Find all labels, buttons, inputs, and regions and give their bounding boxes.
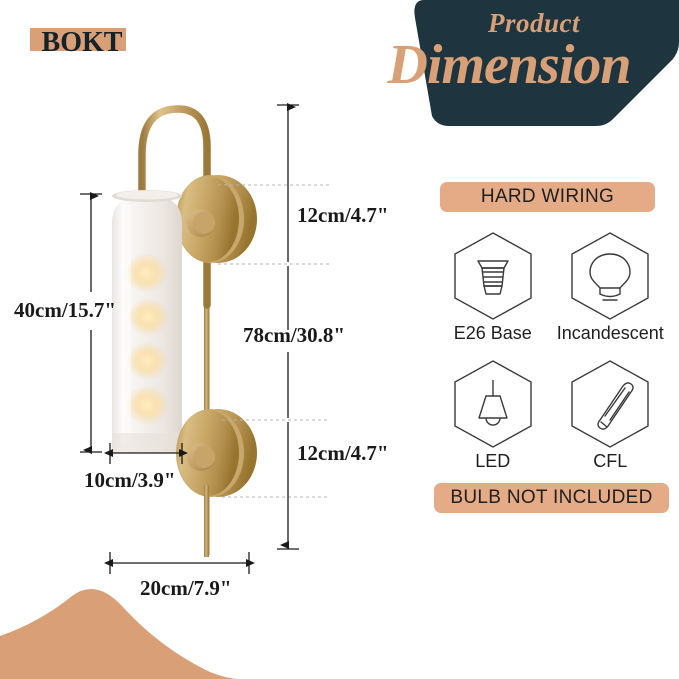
top-wall-mount [176, 175, 257, 263]
header-title-group: Product Dimension [355, 2, 679, 112]
spec-item-e26-base: E26 Base [434, 230, 552, 344]
lamp-socket-icon [450, 230, 536, 322]
spec-item-cfl: CFL [552, 358, 670, 472]
specs-panel: HARD WIRING E26 Base [434, 182, 669, 472]
page-title: Dimension [339, 37, 679, 93]
dimension-label-base-width: 20cm/7.9" [140, 578, 232, 599]
dimension-label-total-height: 78cm/30.8" [243, 325, 345, 346]
spec-label-led: LED [434, 452, 552, 472]
brand-logo: BOKT [22, 22, 142, 64]
bulb-note-wrapper: BULB NOT INCLUDED [434, 483, 669, 513]
dimension-label-shade-height: 40cm/15.7" [14, 300, 116, 321]
dimension-label-shade-width: 10cm/3.9" [84, 470, 176, 491]
light-bulb-icon [567, 230, 653, 322]
dimension-line-shade-height [80, 194, 102, 452]
spec-item-led: LED [434, 358, 552, 472]
product-dimension-infographic: Product Dimension BOKT [0, 0, 679, 679]
spec-item-incandescent: Incandescent [552, 230, 670, 344]
spec-label-cfl: CFL [552, 452, 670, 472]
pendant-lamp-icon [450, 358, 536, 450]
dimension-label-top-mount: 12cm/4.7" [297, 205, 389, 226]
bulb-compatibility-grid: E26 Base Incandescent [434, 230, 669, 472]
bottom-wall-mount [176, 409, 257, 497]
frosted-glass-shade [112, 190, 182, 453]
spec-label-e26-base: E26 Base [434, 324, 552, 344]
bulb-not-included-badge: BULB NOT INCLUDED [434, 483, 669, 513]
header-eyebrow: Product [389, 10, 679, 37]
dimension-label-bottom-mount: 12cm/4.7" [297, 443, 389, 464]
hard-wiring-badge: HARD WIRING [440, 182, 655, 212]
brand-name: BOKT [22, 29, 142, 57]
spec-label-incandescent: Incandescent [552, 324, 670, 344]
cfl-tube-icon [567, 358, 653, 450]
